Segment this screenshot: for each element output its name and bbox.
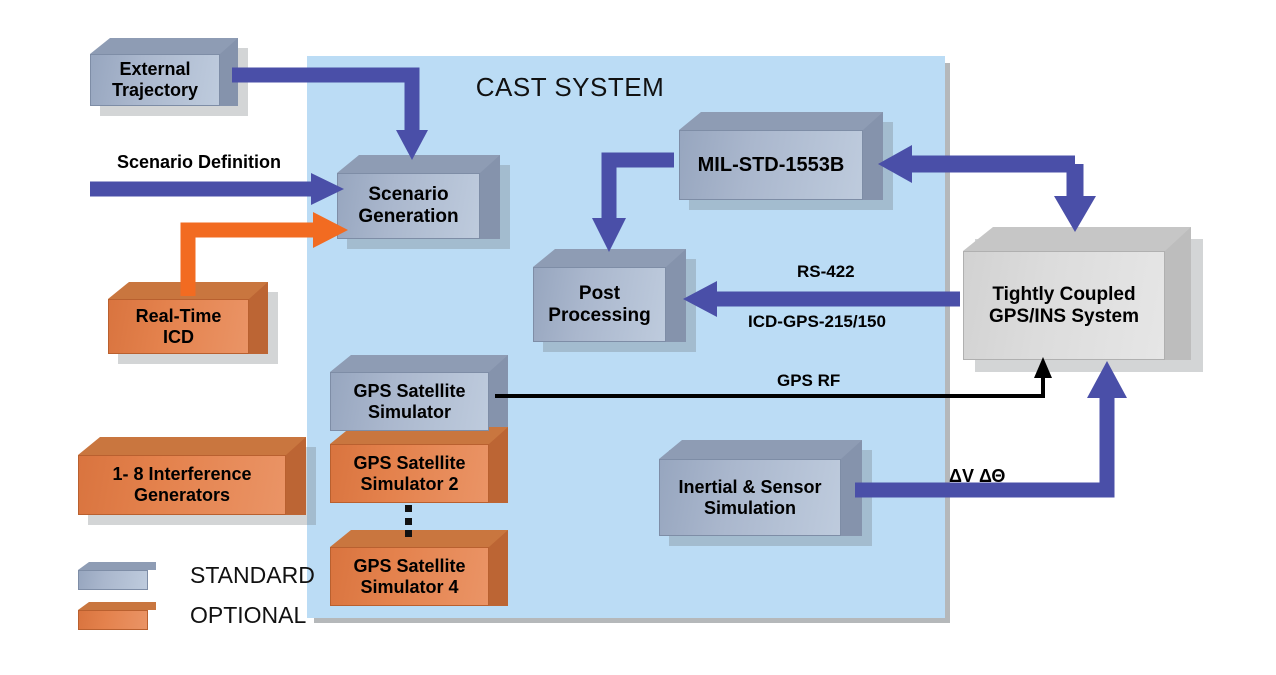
box-label: Post (579, 283, 620, 305)
box-label: GPS Satellite (353, 381, 465, 402)
box-mil-std-1553b[interactable]: MIL-STD-1553B (679, 112, 883, 200)
label-rs-422: RS-422 (797, 262, 855, 282)
box-interference-generators[interactable]: 1- 8 Interference Generators (78, 437, 306, 515)
legend-swatch-optional (78, 602, 156, 628)
diagram-canvas: CAST SYSTEM External Trajectory Scenario… (0, 0, 1276, 675)
box-label: MIL-STD-1553B (698, 154, 845, 177)
legend-label-standard: STANDARD (190, 562, 315, 589)
box-label: Trajectory (112, 80, 198, 101)
cast-system-title: CAST SYSTEM (420, 72, 720, 103)
box-external-trajectory[interactable]: External Trajectory (90, 38, 238, 106)
box-inertial-sensor-simulation[interactable]: Inertial & Sensor Simulation (659, 440, 862, 536)
box-label: External (119, 59, 190, 80)
arrow-scenario-definition (90, 173, 344, 205)
box-label: Inertial & Sensor (678, 477, 821, 498)
label-gps-rf: GPS RF (777, 371, 840, 391)
box-label: Generation (358, 206, 458, 228)
box-label: Processing (548, 305, 650, 327)
box-real-time-icd[interactable]: Real-Time ICD (108, 282, 268, 354)
box-label: Simulator (368, 402, 451, 423)
box-scenario-generation[interactable]: Scenario Generation (337, 155, 500, 239)
label-delta-v-delta-theta: ΔV ΔΘ (949, 466, 1005, 487)
box-post-processing[interactable]: Post Processing (533, 249, 686, 342)
box-label: Generators (134, 485, 230, 506)
box-label: Tightly Coupled (992, 284, 1135, 306)
ellipsis-indicator (404, 505, 412, 537)
box-label: Scenario (368, 184, 448, 206)
box-label: Simulator 4 (360, 577, 458, 598)
label-icd-gps: ICD-GPS-215/150 (748, 312, 886, 332)
box-gps-satellite-simulator-2[interactable]: GPS Satellite Simulator 2 (330, 427, 508, 503)
legend-swatch-standard (78, 562, 156, 588)
box-label: Simulator 2 (360, 474, 458, 495)
box-label: Real-Time (136, 306, 222, 327)
box-label: Simulation (704, 498, 796, 519)
box-label: ICD (163, 327, 194, 348)
box-label: GPS Satellite (353, 453, 465, 474)
box-gps-satellite-simulator-4[interactable]: GPS Satellite Simulator 4 (330, 530, 508, 606)
box-gps-satellite-simulator-1[interactable]: GPS Satellite Simulator (330, 355, 508, 431)
box-tightly-coupled-gps-ins[interactable]: Tightly Coupled GPS/INS System (963, 227, 1191, 360)
box-label: GPS/INS System (989, 306, 1139, 328)
label-scenario-definition: Scenario Definition (117, 152, 281, 173)
box-label: 1- 8 Interference (112, 464, 251, 485)
legend-label-optional: OPTIONAL (190, 602, 306, 629)
box-label: GPS Satellite (353, 556, 465, 577)
